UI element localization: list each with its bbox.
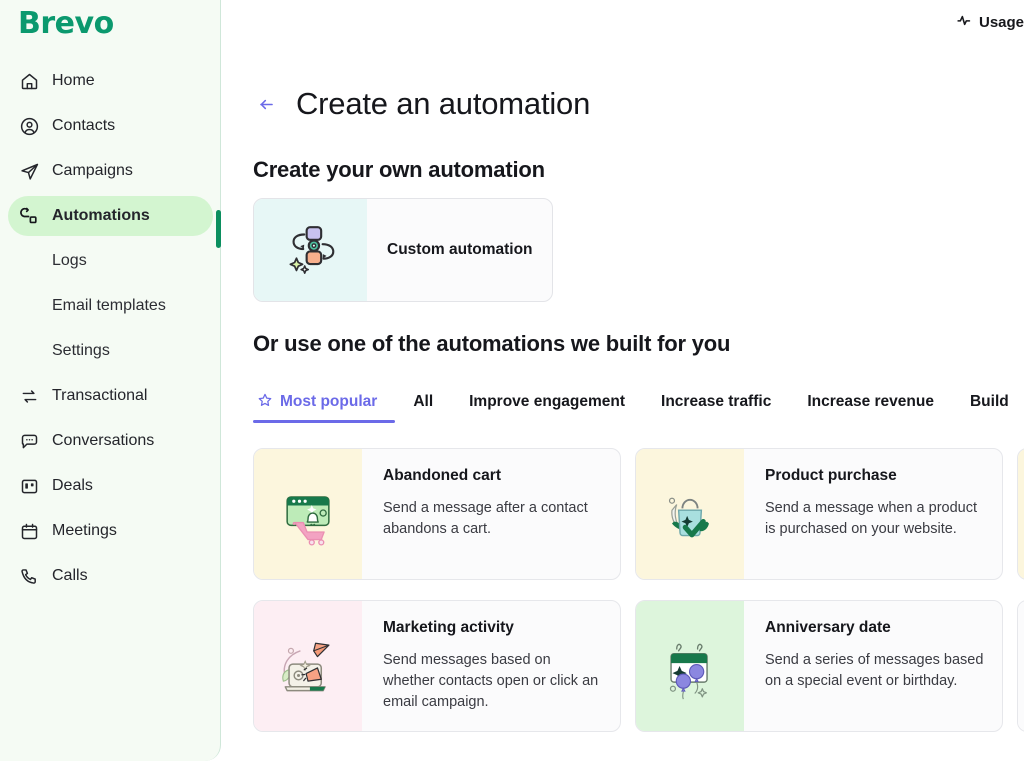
main-content: Usage Create an automation Create your o… [221, 0, 1024, 761]
sidebar-item-automations[interactable]: Automations [8, 196, 213, 236]
contacts-icon [16, 113, 42, 139]
automation-card-abandoned-cart[interactable]: Abandoned cart Send a message after a co… [253, 448, 621, 580]
sidebar-item-logs[interactable]: Logs [8, 241, 213, 281]
section-title-prebuilt: Or use one of the automations we built f… [253, 331, 730, 357]
sidebar-item-label: Transactional [52, 388, 147, 404]
sidebar-item-label: Automations [52, 208, 150, 224]
sidebar-item-label: Calls [52, 568, 88, 584]
automations-icon [16, 203, 42, 229]
sidebar-item-label: Campaigns [52, 163, 133, 179]
sidebar-item-label: Logs [52, 253, 87, 269]
sidebar-item-campaigns[interactable]: Campaigns [8, 151, 213, 191]
custom-automation-title: Custom automation [387, 241, 533, 259]
sidebar-item-calls[interactable]: Calls [8, 556, 213, 596]
section-title-create-own: Create your own automation [253, 157, 545, 183]
deals-icon [16, 473, 42, 499]
sidebar-item-transactional[interactable]: Transactional [8, 376, 213, 416]
sidebar-item-contacts[interactable]: Contacts [8, 106, 213, 146]
brand-logo[interactable]: Brevo [18, 6, 114, 41]
usage-label: Usage [979, 14, 1024, 31]
sidebar-item-email-templates[interactable]: Email templates [8, 286, 213, 326]
abandoned-cart-icon [254, 449, 362, 579]
sidebar-active-indicator [216, 210, 221, 248]
automation-card-body: Product purchase Send a message when a p… [744, 449, 1002, 579]
tab-increase-revenue[interactable]: Increase revenue [789, 381, 952, 423]
automation-card-description: Send a message after a contact abandons … [383, 498, 604, 540]
chat-icon [16, 428, 42, 454]
automation-card-title: Abandoned cart [383, 467, 604, 485]
marketing-activity-icon [254, 601, 362, 731]
sidebar-item-label: Contacts [52, 118, 115, 134]
sidebar-nav: Home Contacts [0, 56, 221, 601]
tab-increase-traffic[interactable]: Increase traffic [643, 381, 789, 423]
automation-card-body: Anniversary date Send a series of messag… [744, 601, 1002, 731]
partial-card-icon [1018, 449, 1024, 579]
automation-grid: Abandoned cart Send a message after a co… [253, 448, 1024, 732]
tab-build[interactable]: Build [952, 381, 1024, 423]
automation-card-title: Anniversary date [765, 619, 986, 637]
product-purchase-icon [636, 449, 744, 579]
tab-label: Increase traffic [661, 393, 771, 411]
sidebar-item-settings[interactable]: Settings [8, 331, 213, 371]
automation-card-title: Marketing activity [383, 619, 604, 637]
tab-label: All [413, 393, 433, 411]
anniversary-date-icon [636, 601, 744, 731]
sidebar-item-deals[interactable]: Deals [8, 466, 213, 506]
automation-card-product-purchase[interactable]: Product purchase Send a message when a p… [635, 448, 1003, 580]
automation-card-title: Product purchase [765, 467, 986, 485]
transactional-icon [16, 383, 42, 409]
sidebar-item-label: Deals [52, 478, 93, 494]
page-header: Create an automation [253, 86, 590, 122]
tab-all[interactable]: All [395, 381, 451, 423]
sidebar-item-label: Home [52, 73, 95, 89]
sidebar-item-label: Email templates [52, 298, 166, 314]
sidebar-item-home[interactable]: Home [8, 61, 213, 101]
automation-card-description: Send a message when a product is purchas… [765, 498, 986, 540]
sidebar: Brevo Home [0, 0, 221, 761]
sidebar-item-label: Conversations [52, 433, 154, 449]
calendar-icon [16, 518, 42, 544]
partial-card-icon [1018, 601, 1024, 731]
custom-automation-body: Custom automation [367, 199, 552, 301]
automation-card-body: Abandoned cart Send a message after a co… [362, 449, 620, 579]
automation-card-marketing-activity[interactable]: Marketing activity Send messages based o… [253, 600, 621, 732]
arrow-left-icon[interactable] [253, 91, 279, 117]
app-root: Brevo Home [0, 0, 1024, 761]
home-icon [16, 68, 42, 94]
sidebar-item-meetings[interactable]: Meetings [8, 511, 213, 551]
custom-automation-card[interactable]: Custom automation [253, 198, 553, 302]
page-title: Create an automation [296, 86, 590, 122]
pulse-icon [956, 12, 973, 33]
automation-category-tabs: Most popular All Improve engagement Incr… [253, 381, 1024, 426]
usage-link[interactable]: Usage [956, 12, 1024, 33]
sidebar-item-label: Settings [52, 343, 110, 359]
phone-icon [16, 563, 42, 589]
automation-card-description: Send a series of messages based on a spe… [765, 650, 986, 692]
tab-most-popular[interactable]: Most popular [253, 381, 395, 423]
automation-card-anniversary-date[interactable]: Anniversary date Send a series of messag… [635, 600, 1003, 732]
automation-card-body: Marketing activity Send messages based o… [362, 601, 620, 731]
star-icon [257, 392, 273, 413]
sidebar-item-label: Meetings [52, 523, 117, 539]
tab-improve-engagement[interactable]: Improve engagement [451, 381, 643, 423]
automation-card-description: Send messages based on whether contacts … [383, 650, 604, 713]
send-icon [16, 158, 42, 184]
sidebar-item-conversations[interactable]: Conversations [8, 421, 213, 461]
tab-label: Increase revenue [807, 393, 934, 411]
custom-flow-icon [254, 199, 367, 301]
automation-card-partial[interactable] [1017, 448, 1024, 580]
automation-card-partial[interactable] [1017, 600, 1024, 732]
tab-label: Build [970, 393, 1009, 411]
tab-label: Improve engagement [469, 393, 625, 411]
tab-label: Most popular [280, 393, 377, 411]
